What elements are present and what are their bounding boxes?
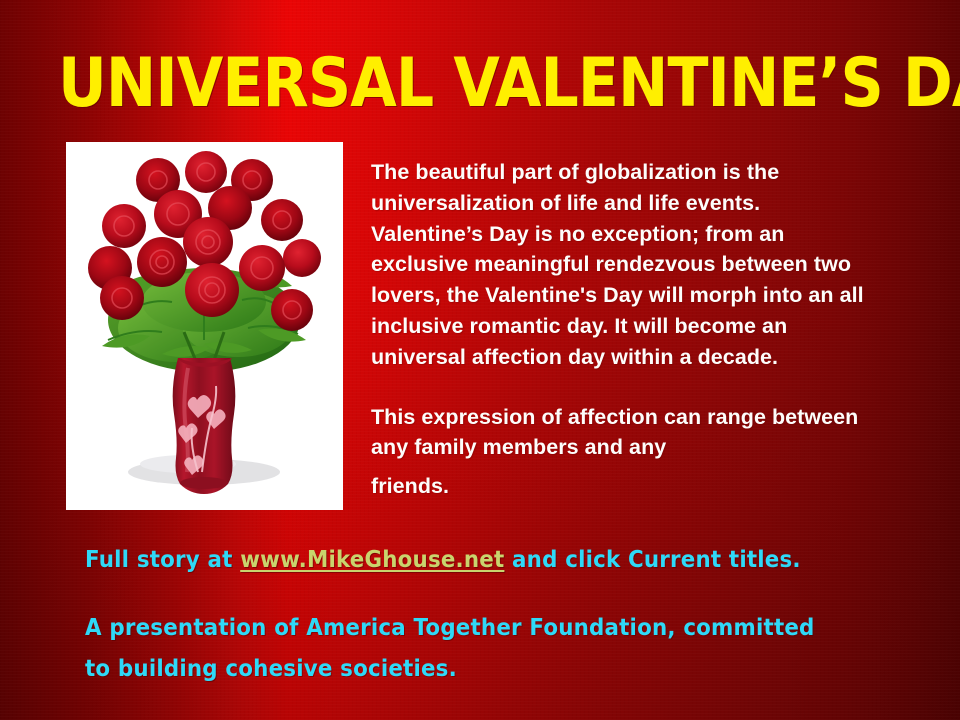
roses-illustration xyxy=(66,142,343,510)
red-roses-bouquet-photo xyxy=(66,142,343,510)
body-copy: The beautiful part of globalization is t… xyxy=(371,157,871,503)
full-story-prefix: Full story at xyxy=(85,547,240,573)
body-paragraph-2: This expression of affection can range b… xyxy=(371,402,871,464)
page-title: UNIVERSAL VALENTINE’S DAY xyxy=(58,50,810,118)
full-story-suffix: and click Current titles. xyxy=(504,547,800,573)
valentines-day-slide: UNIVERSAL VALENTINE’S DAY xyxy=(0,0,960,720)
mikeghouse-link[interactable]: www.MikeGhouse.net xyxy=(240,547,504,573)
full-story-line: Full story at www.MikeGhouse.net and cli… xyxy=(85,546,801,574)
presentation-credit: A presentation of America Together Found… xyxy=(85,608,829,690)
body-paragraph-1: The beautiful part of globalization is t… xyxy=(371,157,871,373)
body-paragraph-2-tail: friends. xyxy=(371,469,871,503)
